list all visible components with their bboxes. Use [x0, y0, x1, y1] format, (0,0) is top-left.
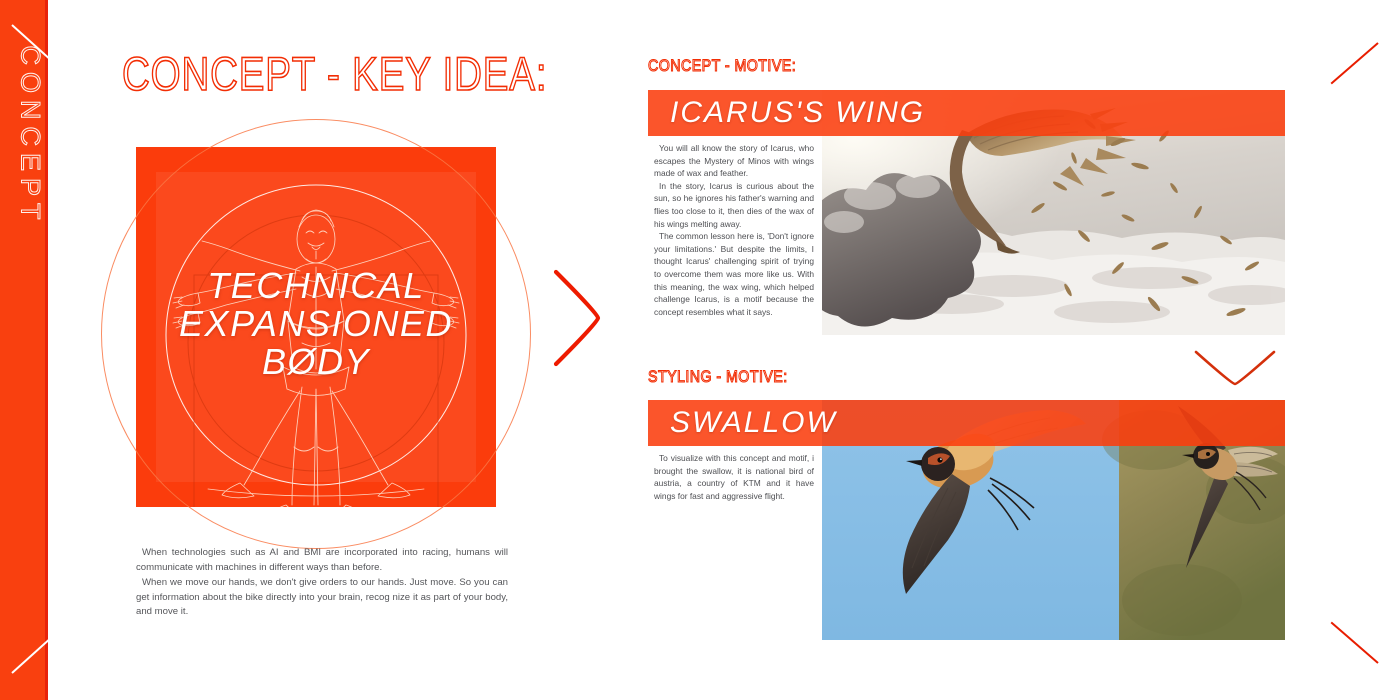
- banner-title-swallow: SWALLOW: [670, 406, 837, 440]
- panel-copy-swallow: To visualize with this concept and motif…: [648, 446, 822, 640]
- icarus-paragraph-3: The common lesson here is, 'Don't ignore…: [654, 230, 814, 318]
- page-title: CONCEPT - KEY IDEA:: [122, 50, 547, 97]
- banner-title-icarus: ICARUS'S WING: [670, 96, 925, 130]
- rail-section-label: CONCEPT: [15, 46, 46, 226]
- corner-slash-bottom-right-icon: [1331, 622, 1379, 664]
- hero-label-line2: EXPANSIONED: [136, 305, 496, 343]
- panel-swallow: SWALLOW To visualize with this concept a…: [648, 400, 1285, 640]
- chevron-down-icon: [1192, 348, 1278, 388]
- panel-copy-icarus: You will all know the story of Icarus, w…: [648, 136, 822, 335]
- section-label-styling-motive: STYLING - MOTIVE:: [648, 367, 788, 387]
- panel-banner-icarus: ICARUS'S WING: [648, 90, 1285, 136]
- hero-label-line1: TECHNICAL: [136, 267, 496, 305]
- corner-slash-top-right-icon: [1331, 42, 1379, 84]
- left-body-copy: When technologies such as AI and BMI are…: [136, 546, 508, 620]
- panel-icarus: ICARUS'S WING You will all know the stor…: [648, 90, 1285, 335]
- hero-label-line3: BØDY: [136, 343, 496, 381]
- left-copy-paragraph-2: When we move our hands, we don't give or…: [136, 576, 508, 621]
- section-label-concept-motive: CONCEPT - MOTIVE:: [648, 56, 796, 76]
- swallow-paragraph-1: To visualize with this concept and motif…: [654, 452, 814, 502]
- left-copy-paragraph-1: When technologies such as AI and BMI are…: [136, 546, 508, 576]
- icarus-paragraph-1: You will all know the story of Icarus, w…: [654, 142, 814, 180]
- presentation-slide: CONCEPT CONCEPT - KEY IDEA:: [0, 0, 1400, 700]
- panel-banner-swallow: SWALLOW: [648, 400, 1285, 446]
- icarus-paragraph-2: In the story, Icarus is curious about th…: [654, 180, 814, 230]
- hero-graphic: TECHNICAL EXPANSIONED BØDY: [136, 147, 496, 507]
- hero-label: TECHNICAL EXPANSIONED BØDY: [136, 267, 496, 380]
- chevron-right-icon: [548, 268, 608, 368]
